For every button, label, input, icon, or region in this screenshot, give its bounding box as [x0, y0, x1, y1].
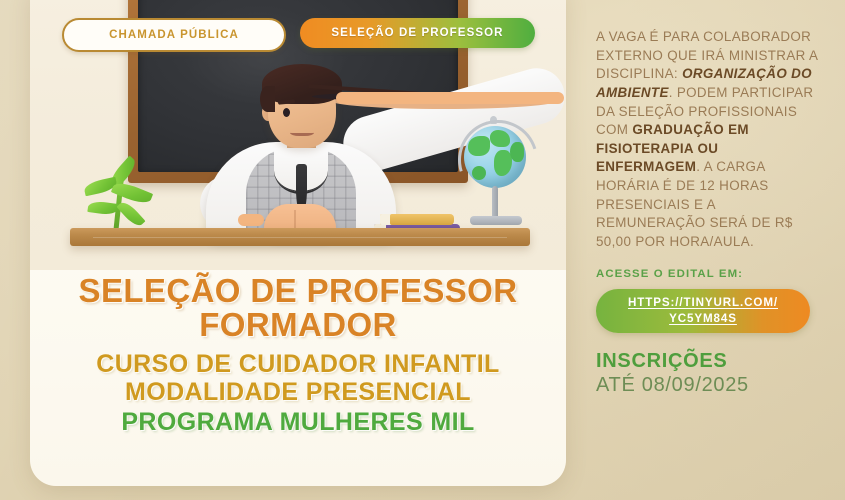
- globe-continent: [510, 142, 524, 162]
- teacher-mouth: [290, 128, 314, 136]
- teacher-cuff: [238, 214, 264, 226]
- badge-chamada-publica[interactable]: CHAMADA PÚBLICA: [62, 18, 286, 52]
- headline-line-3: CURSO DE CUIDADOR INFANTIL: [30, 351, 566, 377]
- vacancy-description: A VAGA É PARA COLABORADOR EXTERNO QUE IR…: [596, 28, 824, 252]
- inscriptions-deadline: ATÉ 08/09/2025: [596, 374, 824, 397]
- badge-row: CHAMADA PÚBLICA SELEÇÃO DE PROFESSOR: [62, 18, 535, 52]
- book-yellow: [380, 214, 454, 225]
- wooden-desk: [70, 228, 530, 246]
- teacher-character: [188, 64, 413, 236]
- headline-line-4: MODALIDADE PRESENCIAL: [30, 379, 566, 405]
- headline-line-5: PROGRAMA MULHERES MIL: [30, 409, 566, 435]
- edital-label: ACESSE O EDITAL EM:: [596, 268, 824, 280]
- globe-continent: [490, 130, 510, 147]
- info-column: A VAGA É PARA COLABORADOR EXTERNO QUE IR…: [596, 28, 824, 397]
- potted-plant-icon: [82, 164, 164, 236]
- teacher-eye: [283, 108, 290, 117]
- globe-icon: [454, 116, 538, 234]
- edital-url-button[interactable]: HTTPS://TINYURL.COM/ YC5YM84S: [596, 289, 810, 333]
- edital-url-line-2: YC5YM84S: [669, 312, 737, 325]
- plant-leaf: [117, 199, 146, 229]
- globe-sphere: [464, 126, 526, 188]
- teacher-cuff: [336, 92, 564, 104]
- main-card: CHAMADA PÚBLICA SELEÇÃO DE PROFESSOR SEL…: [30, 0, 566, 486]
- globe-stand-stem: [492, 186, 498, 220]
- headline-line-1: SELEÇÃO DE PROFESSOR: [30, 274, 566, 308]
- globe-stand-base: [470, 216, 522, 225]
- headline-block: SELEÇÃO DE PROFESSOR FORMADOR CURSO DE C…: [30, 274, 566, 435]
- poster-root: CHAMADA PÚBLICA SELEÇÃO DE PROFESSOR SEL…: [0, 0, 845, 500]
- illustration-area: CHAMADA PÚBLICA SELEÇÃO DE PROFESSOR: [30, 0, 566, 270]
- headline-line-2: FORMADOR: [30, 308, 566, 342]
- edital-url-line-1: HTTPS://TINYURL.COM/: [628, 296, 778, 309]
- desk-highlight: [93, 237, 507, 238]
- globe-continent: [468, 136, 490, 156]
- inscriptions-title: INSCRIÇÕES: [596, 350, 824, 373]
- badge-selecao-de-professor[interactable]: SELEÇÃO DE PROFESSOR: [300, 18, 535, 48]
- globe-continent: [472, 166, 486, 180]
- plant-leaf: [87, 200, 118, 216]
- edital-url-text[interactable]: HTTPS://TINYURL.COM/ YC5YM84S: [628, 295, 778, 326]
